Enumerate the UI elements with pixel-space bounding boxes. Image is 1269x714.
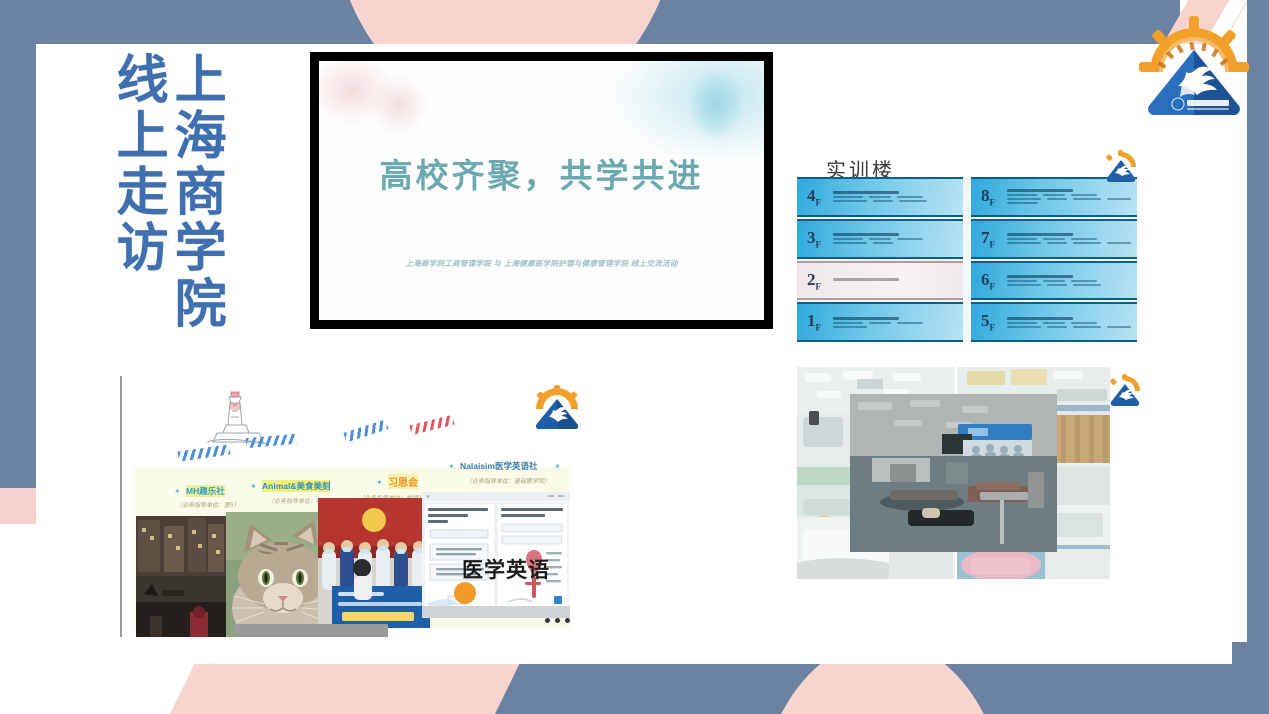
directory-item-line: [1007, 322, 1037, 324]
directory-item-line: [1071, 322, 1097, 324]
directory-item-line: [1047, 198, 1067, 200]
watermark-emblem-collage: [533, 385, 581, 433]
directory-item-line: [1007, 242, 1041, 244]
slide-subtitle: 上海商学院工商管理学院 与 上海健康医学院护理与健康管理学院 线上交流活动: [319, 258, 764, 269]
headline-col-right: 上海商学院: [168, 52, 222, 332]
slide-wash-teal-2: [686, 65, 746, 145]
club-sub-0: （业务指导单位：医5）: [176, 500, 239, 509]
directory-item-line: [1047, 284, 1067, 286]
watermark-collage-svg: [533, 385, 581, 433]
watermark-svg: [1104, 150, 1138, 184]
club-label-1: Animal&美食美刻: [262, 480, 330, 492]
directory-row-heading: [833, 191, 899, 194]
directory-row-heading: [1007, 233, 1073, 236]
college-emblem-logo: [1135, 14, 1253, 126]
sparkle-icon-5: ✦: [554, 462, 561, 471]
directory-item-line: [873, 242, 893, 244]
carousel-pagination-dots[interactable]: [545, 618, 570, 623]
directory-row-heading: [1007, 189, 1073, 192]
watermark-emblem-directory: [1104, 150, 1138, 184]
directory-row-body: [831, 230, 963, 247]
directory-row-body: [1005, 272, 1137, 289]
sparkle-icon-3: ✦: [376, 478, 383, 487]
slide-title: 高校齐聚，共学共进: [319, 149, 764, 197]
vertical-headline: 上海商学院 线上走访: [110, 52, 222, 332]
directory-row-body: [1005, 186, 1137, 207]
directory-floor-label: 8F: [971, 186, 1005, 207]
lab-overlay-svg: [850, 394, 1057, 552]
projector-screen: 高校齐聚，共学共进 上海商学院工商管理学院 与 上海健康医学院护理与健康管理学院…: [310, 52, 773, 329]
club-photo-students-banner: [318, 498, 430, 628]
directory-item-line: [1007, 280, 1037, 282]
pagination-dot[interactable]: [565, 618, 570, 623]
headline-col-left: 线上走访: [110, 52, 164, 332]
directory-item-line: [833, 238, 863, 240]
directory-row-items: [1007, 280, 1133, 286]
directory-item-line: [833, 242, 867, 244]
training-building-directory-photo: 4F3F2F1F 8F7F6F5F: [797, 177, 1137, 342]
directory-item-line: [897, 238, 923, 240]
sparkle-icon-1: ✦: [174, 487, 181, 496]
directory-item-line: [1047, 242, 1067, 244]
directory-item-line: [1071, 238, 1097, 240]
directory-item-line: [1007, 238, 1037, 240]
collage-overlay-caption: 医学英语: [462, 554, 550, 584]
left-pink-band: [0, 488, 36, 524]
directory-floor-label: 4F: [797, 186, 831, 207]
directory-row-body: [1005, 230, 1137, 247]
directory-item-line: [873, 200, 893, 202]
presentation-slide: 上海商学院 线上走访 高校齐聚，共学共进 上海商学院工商管理学院 与 上海健康医…: [0, 0, 1269, 714]
directory-item-line: [1007, 202, 1038, 204]
directory-floor-label: 6F: [971, 270, 1005, 291]
directory-item-line: [1043, 194, 1065, 196]
dash-stroke-1: [178, 444, 231, 461]
directory-item-line: [1073, 284, 1101, 286]
directory-item-line: [1107, 242, 1131, 244]
directory-item-line: [833, 326, 867, 328]
directory-item-line: [1007, 284, 1041, 286]
pagination-dot[interactable]: [545, 618, 550, 623]
directory-item-line: [1107, 326, 1131, 328]
directory-item-line: [833, 200, 867, 202]
sparkle-icon-4: ✦: [448, 462, 455, 471]
directory-row-body: [831, 188, 963, 205]
club-sub-3: （业务指导单位：基础医学院）: [466, 476, 550, 485]
directory-item-line: [869, 238, 891, 240]
directory-row-body: [831, 275, 963, 286]
directory-floor-label: 2F: [797, 270, 831, 291]
directory-item-line: [1007, 326, 1041, 328]
directory-item-line: [1071, 280, 1097, 282]
pagination-dot[interactable]: [555, 618, 560, 623]
directory-row-heading: [833, 317, 899, 320]
directory-item-line: [1107, 198, 1131, 200]
slide-canvas: 高校齐聚，共学共进 上海商学院工商管理学院 与 上海健康医学院护理与健康管理学院…: [319, 61, 764, 320]
slide-wash-pink-2: [369, 75, 429, 135]
directory-row-5F: 5F: [971, 302, 1137, 342]
directory-item-line: [1043, 280, 1065, 282]
directory-item-line: [1043, 238, 1065, 240]
watermark-emblem-lab: [1108, 374, 1142, 408]
left-blue-band: [0, 0, 36, 492]
directory-row-body: [1005, 314, 1137, 331]
directory-row-1F: 1F: [797, 302, 963, 342]
collage-taskbar: [234, 624, 388, 637]
directory-item-line: [833, 196, 863, 198]
directory-item-line: [869, 196, 891, 198]
directory-row-items: [1007, 194, 1133, 204]
directory-row-body: [831, 314, 963, 331]
directory-item-line: [869, 322, 891, 324]
directory-row-items: [833, 196, 959, 202]
directory-row-heading: [1007, 317, 1073, 320]
directory-row-2F: 2F: [797, 261, 963, 301]
directory-item-line: [1073, 242, 1101, 244]
directory-item-line: [1073, 198, 1101, 200]
dash-stroke-3: [344, 419, 389, 442]
directory-floor-label: 3F: [797, 228, 831, 249]
emblem-svg: [1135, 14, 1253, 126]
sparkle-icon-2: ✦: [250, 482, 257, 491]
orange-dot-decoration: [454, 582, 476, 604]
nursing-lab-photo-overlay: [850, 394, 1057, 552]
directory-row-items: [833, 238, 959, 244]
club-label-2: 习思会: [388, 474, 418, 489]
directory-item-line: [833, 322, 863, 324]
directory-row-items: [833, 322, 959, 328]
collage-statusbar: [422, 606, 570, 618]
directory-left-column: 4F3F2F1F: [797, 177, 963, 342]
club-label-3: Nalaisim医学英语社: [460, 460, 537, 472]
campus-night-svg: [136, 516, 226, 637]
directory-row-items: [1007, 322, 1133, 328]
directory-row-4F: 4F: [797, 177, 963, 217]
directory-item-line: [1043, 322, 1065, 324]
directory-item-line: [897, 322, 923, 324]
directory-row-items: [1007, 238, 1133, 244]
directory-item-line: [899, 200, 927, 202]
directory-right-column: 8F7F6F5F: [971, 177, 1137, 342]
club-collage-screenshot: ✦ MH趣乐社 （业务指导单位：医5） ✦ Animal&美食美刻 （业务指导单…: [120, 376, 588, 637]
directory-item-line: [897, 196, 923, 198]
directory-item-line: [1071, 194, 1097, 196]
directory-row-3F: 3F: [797, 219, 963, 259]
dash-stroke-4: [409, 415, 454, 435]
directory-item-line: [1073, 326, 1101, 328]
directory-row-6F: 6F: [971, 261, 1137, 301]
directory-item-line: [1047, 326, 1067, 328]
club-photo-campus-night: [136, 516, 226, 637]
directory-floor-label: 1F: [797, 311, 831, 332]
directory-floor-label: 5F: [971, 311, 1005, 332]
club-label-0: MH趣乐社: [186, 485, 225, 497]
students-svg: [318, 498, 430, 628]
directory-item-line: [1007, 198, 1041, 200]
directory-row-heading: [833, 233, 899, 236]
directory-row-heading: [833, 278, 899, 281]
directory-floor-label: 7F: [971, 228, 1005, 249]
directory-row-7F: 7F: [971, 219, 1137, 259]
directory-item-line: [1007, 194, 1037, 196]
watermark-lab-svg: [1108, 374, 1142, 408]
directory-row-heading: [1007, 275, 1073, 278]
